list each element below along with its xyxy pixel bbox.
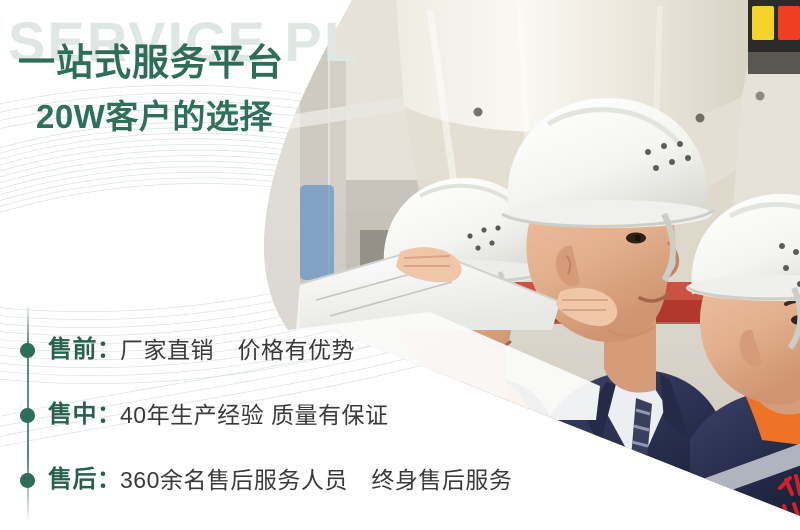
promo-banner: SERVICE PL 一站式服务平台 20W客户的选择 售前： 厂家直销 价格有… [0, 0, 800, 530]
bullet-dot-icon [20, 473, 35, 488]
bullet-dot-icon [20, 408, 35, 423]
bullet-dot-icon [20, 343, 35, 358]
banner-content: SERVICE PL 一站式服务平台 20W客户的选择 售前： 厂家直销 价格有… [0, 0, 800, 530]
service-timeline: 售前： 厂家直销 价格有优势 售中： 40年生产经验 质量有保证 售后： 360… [0, 300, 800, 530]
list-item-label: 售后： [48, 460, 122, 500]
list-item-label: 售中： [48, 395, 122, 435]
list-item-text: 40年生产经验 质量有保证 [120, 395, 388, 435]
page-subtitle: 20W客户的选择 [36, 100, 273, 133]
list-item-text: 厂家直销 价格有优势 [120, 330, 355, 370]
list-item-label: 售前： [48, 330, 122, 370]
list-item-text: 360余名售后服务人员 终身售后服务 [120, 460, 512, 500]
page-title: 一站式服务平台 [18, 44, 284, 81]
